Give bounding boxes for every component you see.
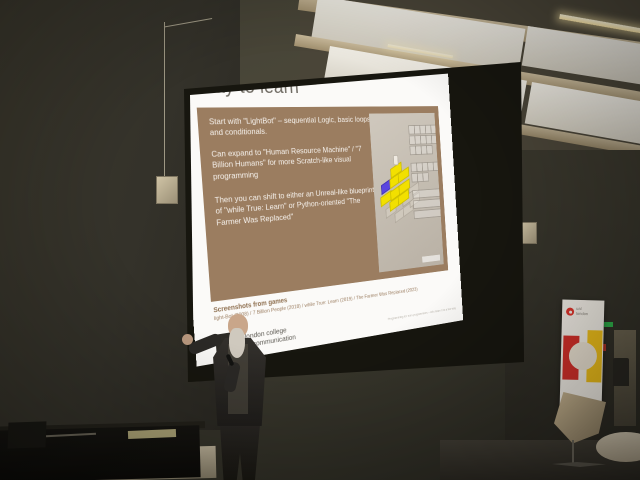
banner-text-line2: london [576,311,588,316]
speaker-beard [229,328,245,358]
slide-paragraph-2: Can expand to "Human Resource Machine" /… [211,144,376,183]
screenshot-watermark [422,255,440,263]
roll-up-banner: ual london [560,299,605,408]
robot-character [393,155,399,166]
chair-leg [572,440,574,466]
exit-sign [604,322,613,327]
banner-logo-icon [566,308,574,316]
lightbot-screenshot [369,113,444,273]
lecture-room-photo: Play to learn Start with "LightBot" – se… [0,0,640,480]
speaker-hand [182,334,193,345]
laptop [8,421,47,448]
slide-content-box: Start with "LightBot" – sequential Logic… [197,106,448,302]
pendant-lamp [156,176,178,204]
waste-bin [613,358,629,386]
slide-paragraph-3: Then you can shift to either an Unreal-l… [214,185,378,229]
banner-logo-text: ual london [576,307,588,316]
lamp-cord [164,22,165,182]
slide-paragraph-1: Start with "LightBot" – sequential Logic… [209,114,374,138]
slide-footer-note: Programming for non-programmers – let's … [388,307,456,322]
speaker-legs [218,422,262,480]
